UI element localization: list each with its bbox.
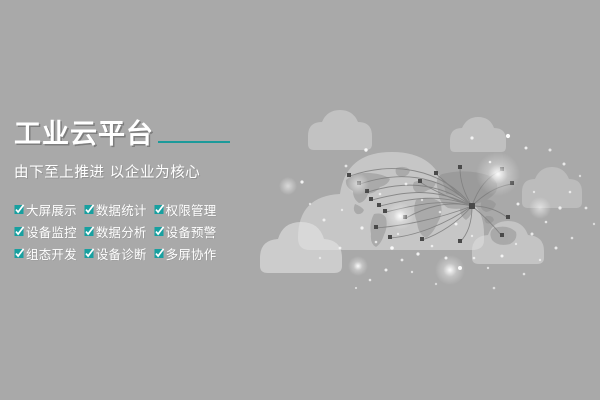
feature-label: 设备监控 [26,222,77,241]
checkbox-checked-icon [154,226,165,237]
checkbox-checked-icon [154,248,165,259]
checkbox-checked-icon [84,226,95,237]
feature-row: 组态开发 设备诊断 多屏协作 [14,244,254,263]
feature-label: 设备诊断 [96,244,147,263]
cloud-icon [450,117,506,152]
title-row: 工业云平台 [14,118,254,152]
feature-item[interactable]: 数据分析 [84,222,147,241]
cloud-icon [308,110,372,150]
feature-label: 组态开发 [26,244,77,263]
cloud-world-map-illustration [250,88,600,303]
feature-item[interactable]: 权限管理 [154,200,217,219]
feature-label: 数据分析 [96,222,147,241]
feature-row: 设备监控 数据分析 设备预警 [14,222,254,241]
feature-item[interactable]: 设备预警 [154,222,217,241]
industrial-cloud-platform-banner: 工业云平台 由下至上推进 以企业为核心 大屏展示 数据统计 [0,0,600,400]
feature-item[interactable]: 设备诊断 [84,244,147,263]
feature-label: 设备预警 [166,222,217,241]
feature-item[interactable]: 大屏展示 [14,200,77,219]
feature-label: 数据统计 [96,200,147,219]
checkbox-checked-icon [14,248,25,259]
feature-item[interactable]: 多屏协作 [154,244,217,263]
page-title: 工业云平台 [14,119,154,151]
checkbox-checked-icon [84,204,95,215]
banner-subtitle: 由下至上推进 以企业为核心 [14,161,254,182]
checkbox-checked-icon [14,204,25,215]
feature-item[interactable]: 数据统计 [84,200,147,219]
checkbox-checked-icon [14,226,25,237]
feature-item[interactable]: 设备监控 [14,222,77,241]
feature-row: 大屏展示 数据统计 权限管理 [14,200,254,219]
checkbox-checked-icon [154,204,165,215]
feature-item[interactable]: 组态开发 [14,244,77,263]
feature-label: 大屏展示 [26,200,77,219]
banner-text-block: 工业云平台 由下至上推进 以企业为核心 大屏展示 数据统计 [14,118,254,263]
feature-list: 大屏展示 数据统计 权限管理 [14,200,254,263]
feature-label: 权限管理 [166,200,217,219]
checkbox-checked-icon [84,248,95,259]
feature-label: 多屏协作 [166,244,217,263]
title-underline-rule [158,141,230,143]
